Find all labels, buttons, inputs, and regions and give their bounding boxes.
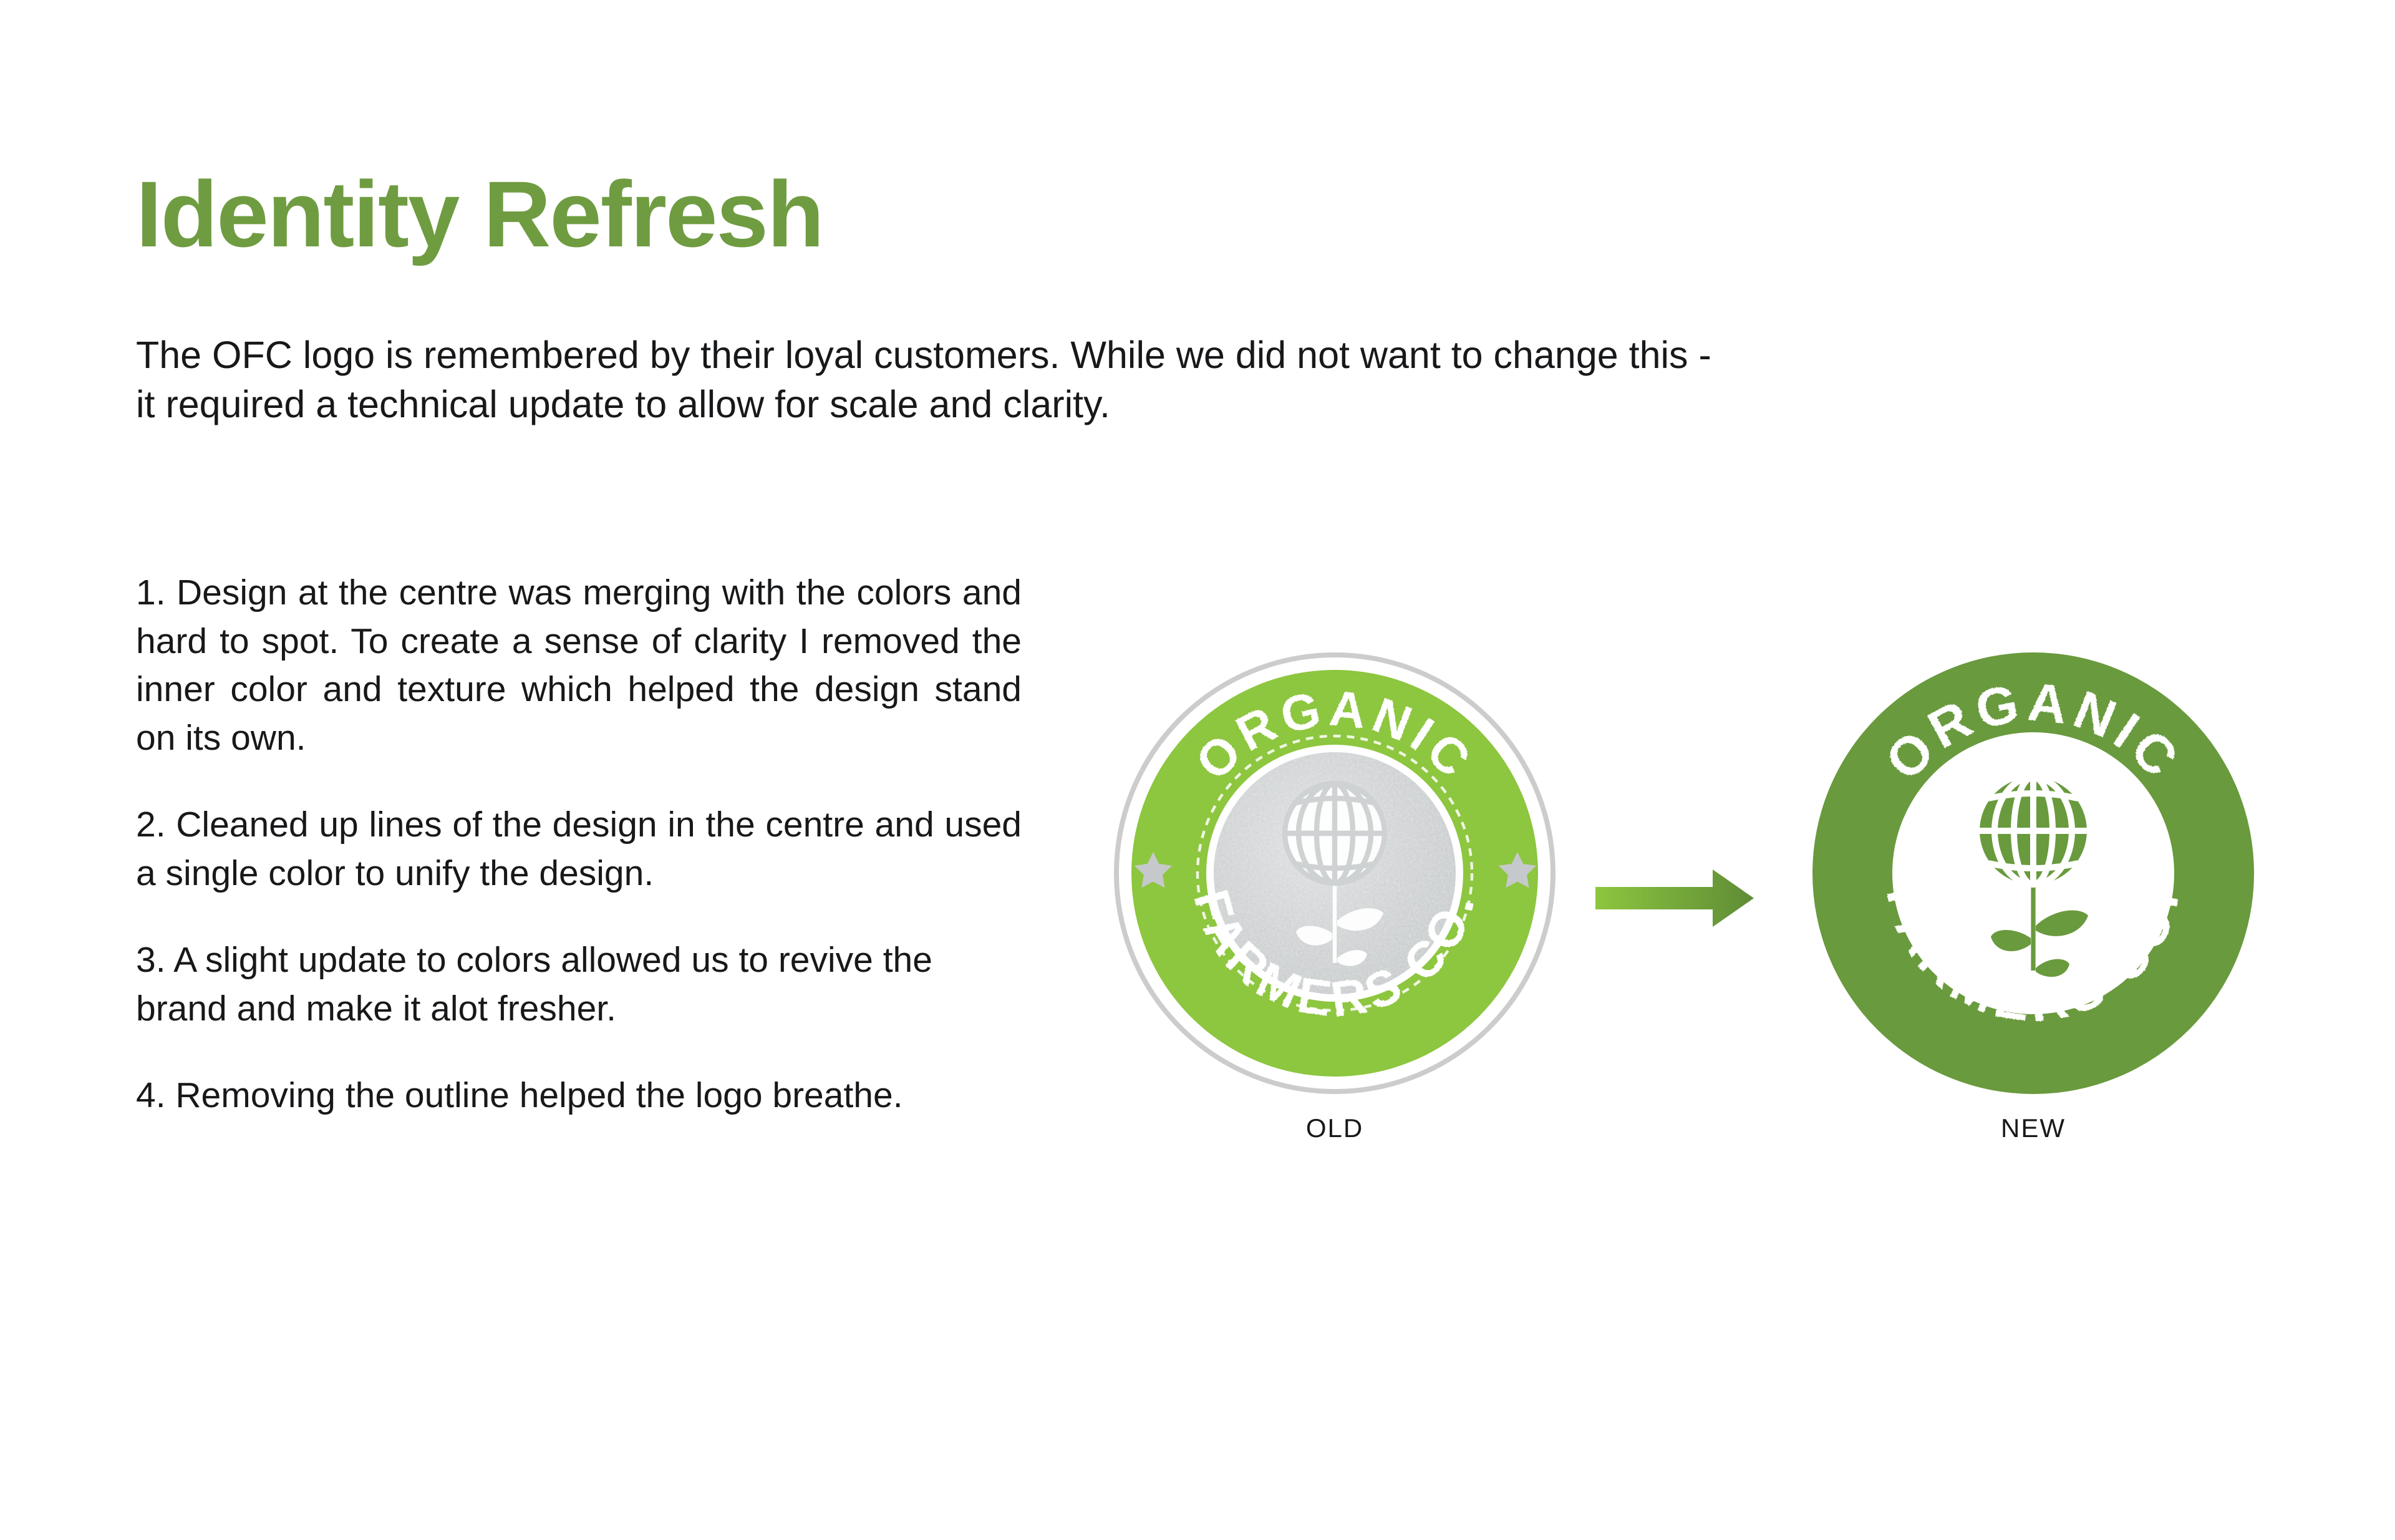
note-item-2: 2. Cleaned up lines of the design in the… xyxy=(136,801,1022,898)
new-logo-mark: ORGANIC FARMERS CO. xyxy=(1809,649,2258,1098)
logo-comparison: ORGANIC FARMERS CO. OLD xyxy=(1098,649,2283,1210)
old-logo-figure: ORGANIC FARMERS CO. OLD xyxy=(1110,649,1559,1110)
transition-arrow xyxy=(1590,855,1790,942)
old-logo-caption: OLD xyxy=(1110,1113,1559,1143)
note-item-3: 3. A slight update to colors allowed us … xyxy=(136,936,1022,1033)
intro-paragraph: The OFC logo is remembered by their loya… xyxy=(136,331,2263,430)
note-item-1: 1. Design at the centre was merging with… xyxy=(136,569,1022,762)
page-title: Identity Refresh xyxy=(136,167,823,261)
notes-list: 1. Design at the centre was merging with… xyxy=(136,569,1022,1120)
old-logo-mark: ORGANIC FARMERS CO. xyxy=(1110,649,1559,1098)
note-item-4: 4. Removing the outline helped the logo … xyxy=(136,1072,1022,1120)
intro-line-2: it required a technical update to allow … xyxy=(136,380,2263,429)
slide-canvas: Identity Refresh The OFC logo is remembe… xyxy=(0,0,2395,1540)
new-logo-caption: NEW xyxy=(1809,1113,2258,1143)
intro-line-1: The OFC logo is remembered by their loya… xyxy=(136,331,2263,380)
new-logo-figure: ORGANIC FARMERS CO. NEW xyxy=(1809,649,2258,1110)
right-arrow-icon xyxy=(1590,855,1790,942)
